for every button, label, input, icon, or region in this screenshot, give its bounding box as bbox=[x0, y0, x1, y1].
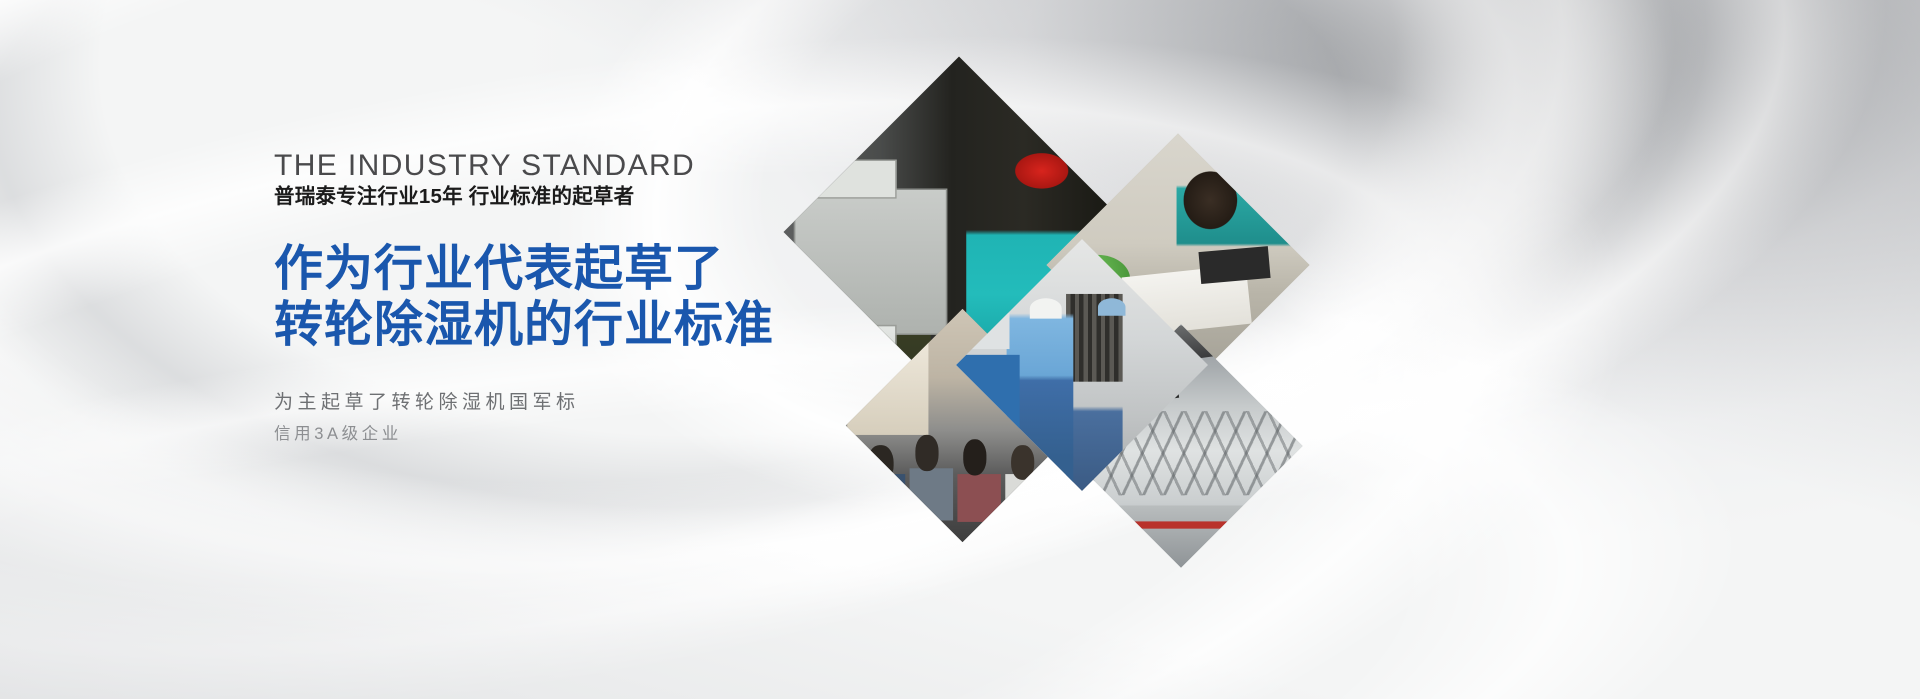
hero-banner: THE INDUSTRY STANDARD 普瑞泰专注行业15年 行业标准的起草… bbox=[0, 0, 1920, 699]
hero-headline: 作为行业代表起草了 转轮除湿机的行业标准 bbox=[274, 242, 744, 354]
hero-tagline-secondary: 信用3A级企业 bbox=[274, 420, 744, 450]
hero-tagline-group: 为主起草了转轮除湿机国军标 信用3A级企业 bbox=[274, 386, 744, 450]
hero-headline-line-2: 转轮除湿机的行业标准 bbox=[274, 298, 744, 354]
hero-text-block: THE INDUSTRY STANDARD 普瑞泰专注行业15年 行业标准的起草… bbox=[274, 150, 744, 450]
hero-headline-line-1: 作为行业代表起草了 bbox=[274, 242, 724, 296]
diamond-photo-collage bbox=[700, 60, 1420, 560]
hero-eyebrow: THE INDUSTRY STANDARD bbox=[274, 150, 744, 182]
hero-tagline-primary: 为主起草了转轮除湿机国军标 bbox=[274, 386, 744, 420]
hero-sub-eyebrow: 普瑞泰专注行业15年 行业标准的起草者 bbox=[274, 186, 744, 209]
